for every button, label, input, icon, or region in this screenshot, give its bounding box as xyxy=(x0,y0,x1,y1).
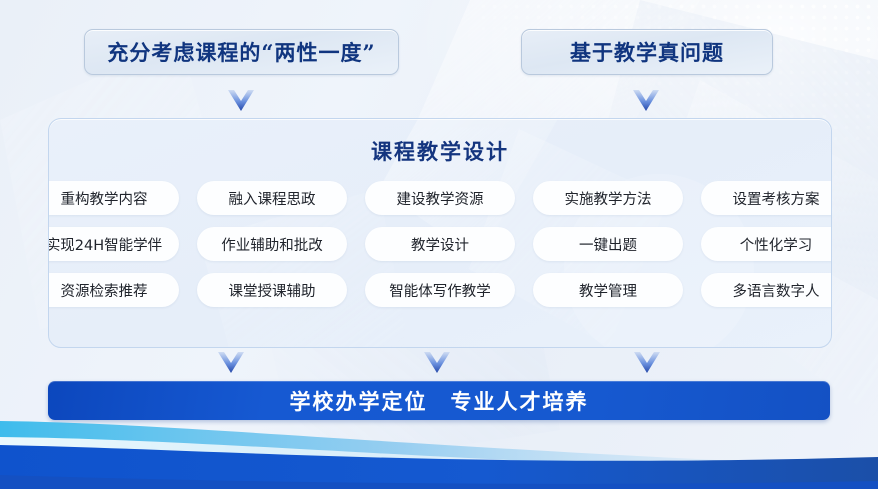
arrow-down-icon xyxy=(424,352,450,374)
feature-pill[interactable]: 教学管理 xyxy=(533,273,683,307)
header-box-label: 充分考虑课程的“两性一度” xyxy=(107,37,375,67)
feature-pill[interactable]: 智能体写作教学 xyxy=(365,273,515,307)
slide-canvas: 充分考虑课程的“两性一度” 基于教学真问题 xyxy=(0,0,878,489)
panel-title: 课程教学设计 xyxy=(49,136,831,166)
bottom-wave-decoration xyxy=(0,409,878,489)
arrow-down-icon xyxy=(634,352,660,374)
feature-pill[interactable]: 作业辅助和批改 xyxy=(197,227,347,261)
course-design-panel: 课程教学设计 重构教学内容 融入课程思政 建设教学资源 实施教学方法 设置考核方… xyxy=(48,118,832,348)
bottom-banner-bar[interactable]: 学校办学定位 专业人才培养 xyxy=(48,381,830,420)
feature-pill-grid: 重构教学内容 融入课程思政 建设教学资源 实施教学方法 设置考核方案 实现24H… xyxy=(49,181,831,307)
feature-pill[interactable]: 实施教学方法 xyxy=(533,181,683,215)
feature-pill[interactable]: 设置考核方案 xyxy=(701,181,832,215)
arrow-down-icon xyxy=(633,90,659,112)
header-box-teaching-problems[interactable]: 基于教学真问题 xyxy=(521,29,773,75)
feature-row: 资源检索推荐 课堂授课辅助 智能体写作教学 教学管理 多语言数字人 xyxy=(49,273,831,307)
feature-pill[interactable]: 多语言数字人 xyxy=(701,273,832,307)
feature-pill[interactable]: 个性化学习 xyxy=(701,227,832,261)
feature-pill[interactable]: 重构教学内容 xyxy=(48,181,179,215)
feature-pill[interactable]: 一键出题 xyxy=(533,227,683,261)
header-box-course-attributes[interactable]: 充分考虑课程的“两性一度” xyxy=(84,29,399,75)
feature-pill[interactable]: 课堂授课辅助 xyxy=(197,273,347,307)
arrow-down-icon xyxy=(228,90,254,112)
feature-pill[interactable]: 实现24H智能学伴 xyxy=(48,227,179,261)
arrow-down-icon xyxy=(218,352,244,374)
feature-pill[interactable]: 融入课程思政 xyxy=(197,181,347,215)
feature-pill[interactable]: 教学设计 xyxy=(365,227,515,261)
header-box-label: 基于教学真问题 xyxy=(570,37,724,67)
feature-row: 重构教学内容 融入课程思政 建设教学资源 实施教学方法 设置考核方案 xyxy=(49,181,831,215)
bottom-banner-label: 学校办学定位 专业人才培养 xyxy=(290,386,589,416)
feature-pill[interactable]: 资源检索推荐 xyxy=(48,273,179,307)
feature-row: 实现24H智能学伴 作业辅助和批改 教学设计 一键出题 个性化学习 xyxy=(49,227,831,261)
feature-pill[interactable]: 建设教学资源 xyxy=(365,181,515,215)
